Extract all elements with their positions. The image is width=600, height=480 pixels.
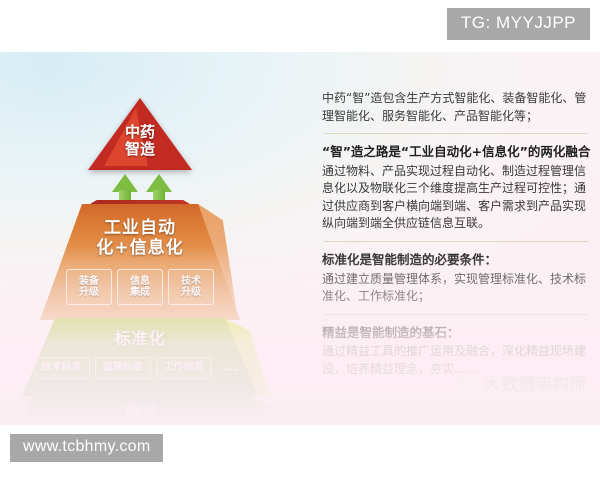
automation-layer-title: 工业自动 化+信息化 <box>96 218 183 259</box>
pyramid-layer-lean: 精益 5S可视化 项目 车间管 理体系 <box>8 394 276 425</box>
standardization-layer-face: 标准化 技术标准 管理标准 工作标准 … <box>22 318 258 396</box>
note-body: 通过建立质量管理体系，实现管理标准化、技术标准化、工作标准化； <box>322 271 592 306</box>
chip-line2: 升级 <box>181 287 201 298</box>
infographic-image: 中药 智造 工业自动 化+信息化 <box>0 52 600 425</box>
automation-title-line2: 化+信息化 <box>96 238 183 258</box>
website-watermark-chip: www.tcbhmy.com <box>10 434 163 462</box>
section-divider <box>324 314 588 315</box>
section-divider <box>324 241 588 242</box>
chip-ellipsis: … <box>217 357 247 379</box>
pyramid-layer-automation: 工业自动 化+信息化 装备 升级 信息 集成 <box>40 204 240 320</box>
automation-title-line1: 工业自动 <box>96 218 183 238</box>
standardization-chip-row: 技术标准 管理标准 工作标准 … <box>34 357 247 379</box>
chip-management-standard: 管理标准 <box>95 357 151 379</box>
chip-line2: 集成 <box>130 287 150 298</box>
pyramid-apex: 中药 智造 <box>88 98 192 170</box>
apex-label-line2: 智造 <box>88 141 192 158</box>
note-heading: 标准化是智能制造的必要条件： <box>322 251 592 269</box>
note-block-lean: 精益是智能制造的基石： 通过精益工具的推广运用及融合，深化精益现场建设，培养精益… <box>322 324 592 379</box>
chip-line2: 升级 <box>79 287 99 298</box>
chip-equipment-upgrade: 装备 升级 <box>66 269 112 305</box>
lean-layer-face: 精益 5S可视化 项目 车间管 理体系 <box>8 394 276 425</box>
note-body: 通过精益工具的推广运用及融合，深化精益现场建设，培养精益理念，夯实…… <box>322 343 592 378</box>
chip-line1: 技术 <box>181 276 201 287</box>
apex-label-line1: 中药 <box>88 124 192 141</box>
automation-chip-row: 装备 升级 信息 集成 技术 升级 <box>66 269 214 305</box>
chip-work-standard: 工作标准 <box>156 357 212 379</box>
note-body: 中药“智”造包含生产方式智能化、装备智能化、管理智能化、服务智能化、产品智能化等… <box>322 90 592 125</box>
chip-technical-standard: 技术标准 <box>34 357 90 379</box>
note-body: 通过物料、产品实现过程自动化、制造过程管理信息化以及物联化三个维度提高生产过程可… <box>322 163 592 233</box>
chip-information-integration: 信息 集成 <box>117 269 163 305</box>
note-heading: “智”造之路是“工业自动化+信息化”的两化融合 <box>322 143 592 161</box>
note-block-two-integration: “智”造之路是“工业自动化+信息化”的两化融合 通过物料、产品实现过程自动化、制… <box>322 143 592 233</box>
section-divider <box>324 133 588 134</box>
pyramid-diagram: 中药 智造 工业自动 化+信息化 <box>0 52 330 425</box>
lean-layer-title: 精益 <box>125 399 159 423</box>
chip-technology-upgrade: 技术 升级 <box>168 269 214 305</box>
note-block-smart-manufacturing: 中药“智”造包含生产方式智能化、装备智能化、管理智能化、服务智能化、产品智能化等… <box>322 90 592 125</box>
telegram-watermark-chip: TG: MYYJJPP <box>447 8 590 40</box>
explanation-text-column: 中药“智”造包含生产方式智能化、装备智能化、管理智能化、服务智能化、产品智能化等… <box>316 52 600 425</box>
chip-line1: 信息 <box>130 276 150 287</box>
note-heading: 精益是智能制造的基石： <box>322 324 592 342</box>
pyramid-layer-standardization: 标准化 技术标准 管理标准 工作标准 … <box>22 318 258 396</box>
automation-layer-face: 工业自动 化+信息化 装备 升级 信息 集成 <box>40 204 240 320</box>
note-block-standardization: 标准化是智能制造的必要条件： 通过建立质量管理体系，实现管理标准化、技术标准化、… <box>322 251 592 306</box>
apex-label: 中药 智造 <box>88 124 192 158</box>
standardization-layer-title: 标准化 <box>114 325 165 349</box>
chip-line1: 装备 <box>79 276 99 287</box>
